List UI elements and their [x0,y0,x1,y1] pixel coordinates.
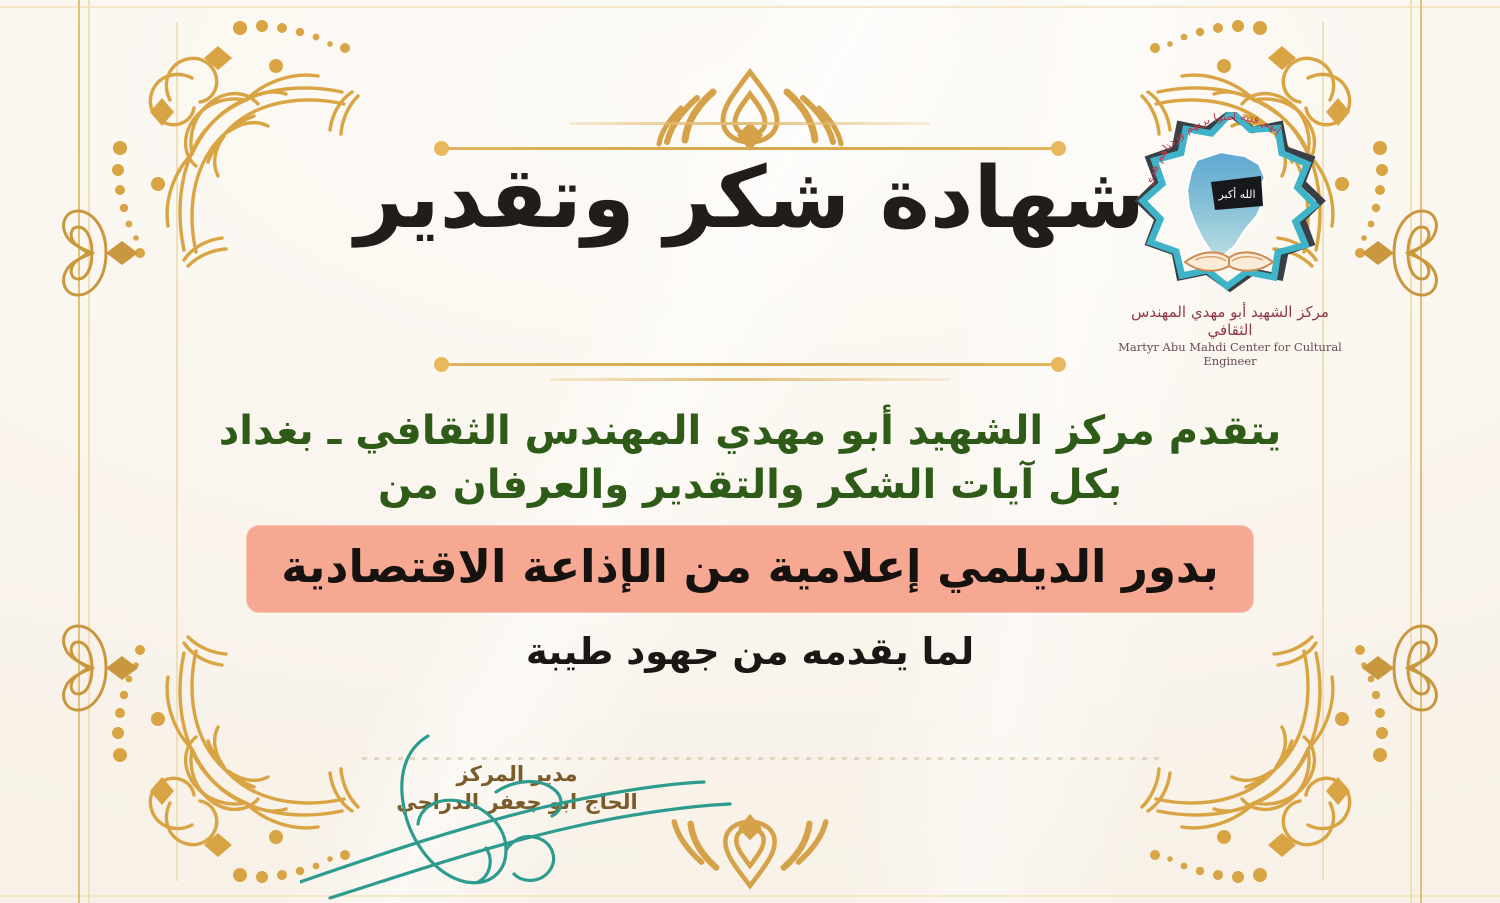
organization-logo: الله أكبر إنهم فتية آمنوا بربهم وزدناهم … [1112,112,1348,368]
divider-below-title [420,352,1080,378]
body-closing-line: لما يقدمه من جهود طيبة [0,630,1500,673]
logo-name-arabic: مركز الشهيد أبو مهدي المهندس الثقافي [1112,303,1348,339]
logo-name-english: Martyr Abu Mahdi Center for Cultural Eng… [1112,340,1348,368]
signature-block: مدير المركز الحاج ابو جعفر الدراجي [352,762,682,814]
recipient-name: بدور الديلمي إعلامية من الإذاعة الاقتصاد… [247,526,1253,612]
signature-name: الحاج ابو جعفر الدراجي [352,790,682,814]
body-line-1: يتقدم مركز الشهيد أبو مهدي المهندس الثقا… [0,404,1500,458]
signature-role: مدير المركز [352,762,682,786]
recipient-row: بدور الديلمي إعلامية من الإذاعة الاقتصاد… [0,526,1500,612]
logo-emblem-icon: الله أكبر إنهم فتية آمنوا بربهم وزدناهم … [1125,112,1335,302]
signature-dotted-line [362,757,1162,760]
divider-dot-right [1051,357,1066,372]
crown-ornament-bottom-icon [645,807,855,899]
certificate-canvas: شهادة شكر وتقدير [0,0,1500,903]
certificate-body: يتقدم مركز الشهيد أبو مهدي المهندس الثقا… [0,404,1500,673]
svg-text:الله أكبر: الله أكبر [1217,187,1255,201]
divider-bar [446,363,1054,366]
body-line-2: بكل آيات الشكر والتقدير والعرفان من [0,458,1500,512]
divider-bar-secondary [550,378,950,381]
divider-bar-secondary [570,122,930,125]
